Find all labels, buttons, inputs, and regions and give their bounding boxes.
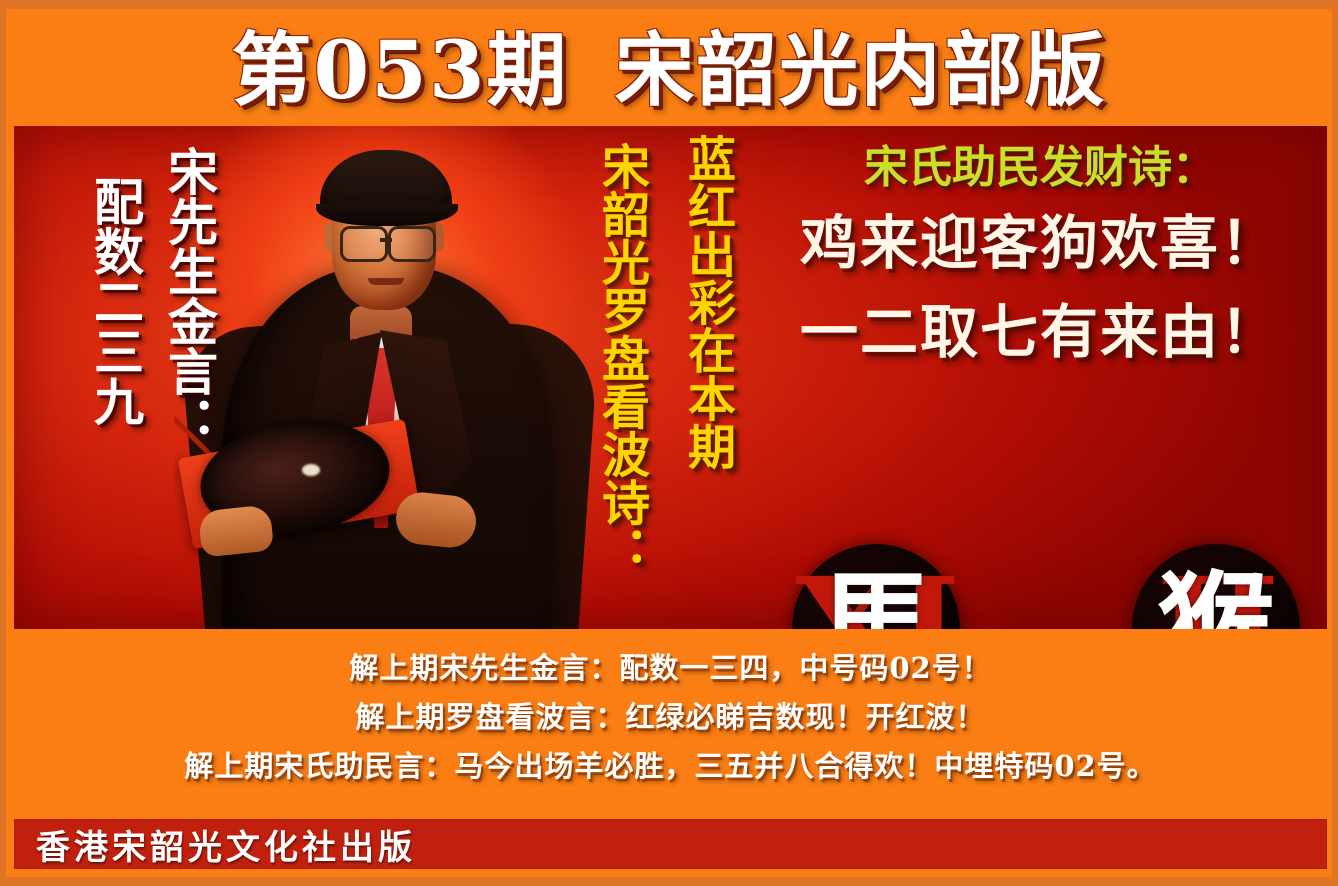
note-line-1: 解上期宋先生金言：配数一三四，中号码02号！ <box>14 645 1327 694</box>
note-line-2: 解上期罗盘看波言：红绿必睇吉数现！开红波！ <box>14 694 1327 743</box>
poem-heading: 宋氏助民发财诗： <box>764 144 1316 192</box>
mouth <box>368 278 404 285</box>
vertical-text-compass-poem-label: 宋韶光罗盘看波诗： <box>596 142 645 574</box>
zodiac-character-2: 猴 <box>1132 544 1300 629</box>
eyeglass-bridge <box>380 238 392 242</box>
note-line-3: 解上期宋氏助民言：马今出场羊必胜，三五并八合得欢！中埋特码02号。 <box>14 743 1327 792</box>
luopan-highlight <box>302 464 320 476</box>
publisher-label: 香港宋韶光文化社出版 <box>36 820 416 869</box>
right-border-strip <box>1332 9 1338 886</box>
fortune-teller-portrait <box>174 126 594 629</box>
poem-line-1: 鸡来迎客狗欢喜！ <box>764 206 1316 280</box>
vertical-text-pairing-numbers: 配数二三九 <box>90 176 141 426</box>
title-bar: 第053期 宋韶光内部版 <box>0 17 1338 122</box>
hand-left <box>198 504 274 557</box>
vertical-text-blue-red-line: 蓝红出彩在本期 <box>682 134 731 470</box>
zodiac-character-1: 馬 <box>792 544 960 629</box>
fortune-poem-block: 宋氏助民发财诗： 鸡来迎客狗欢喜！ 一二取七有来由！ <box>764 144 1316 369</box>
issue-number: 第053期 <box>232 30 569 110</box>
zodiac-badge-horse: XI 馬 <box>792 544 960 629</box>
publisher-bar: 香港宋韶光文化社出版 <box>14 819 1327 869</box>
left-border-strip <box>0 9 6 886</box>
eyeglass-lens-left <box>340 226 388 262</box>
poem-line-2: 一二取七有来由！ <box>764 295 1316 369</box>
previous-issue-notes: 解上期宋先生金言：配数一三四，中号码02号！ 解上期罗盘看波言：红绿必睇吉数现！… <box>14 645 1327 792</box>
poster-root: 第053期 宋韶光内部版 <box>0 0 1338 886</box>
edition-title: 宋韶光内部版 <box>615 30 1107 110</box>
eyeglass-lens-right <box>388 226 436 262</box>
zodiac-badge-monkey: II 猴 <box>1132 544 1300 629</box>
vertical-text-golden-words: 宋先生金言： <box>164 146 215 446</box>
main-red-panel: 宋先生金言： 配数二三九 宋韶光罗盘看波诗： 蓝红出彩在本期 宋氏助民发财诗： … <box>14 126 1327 629</box>
